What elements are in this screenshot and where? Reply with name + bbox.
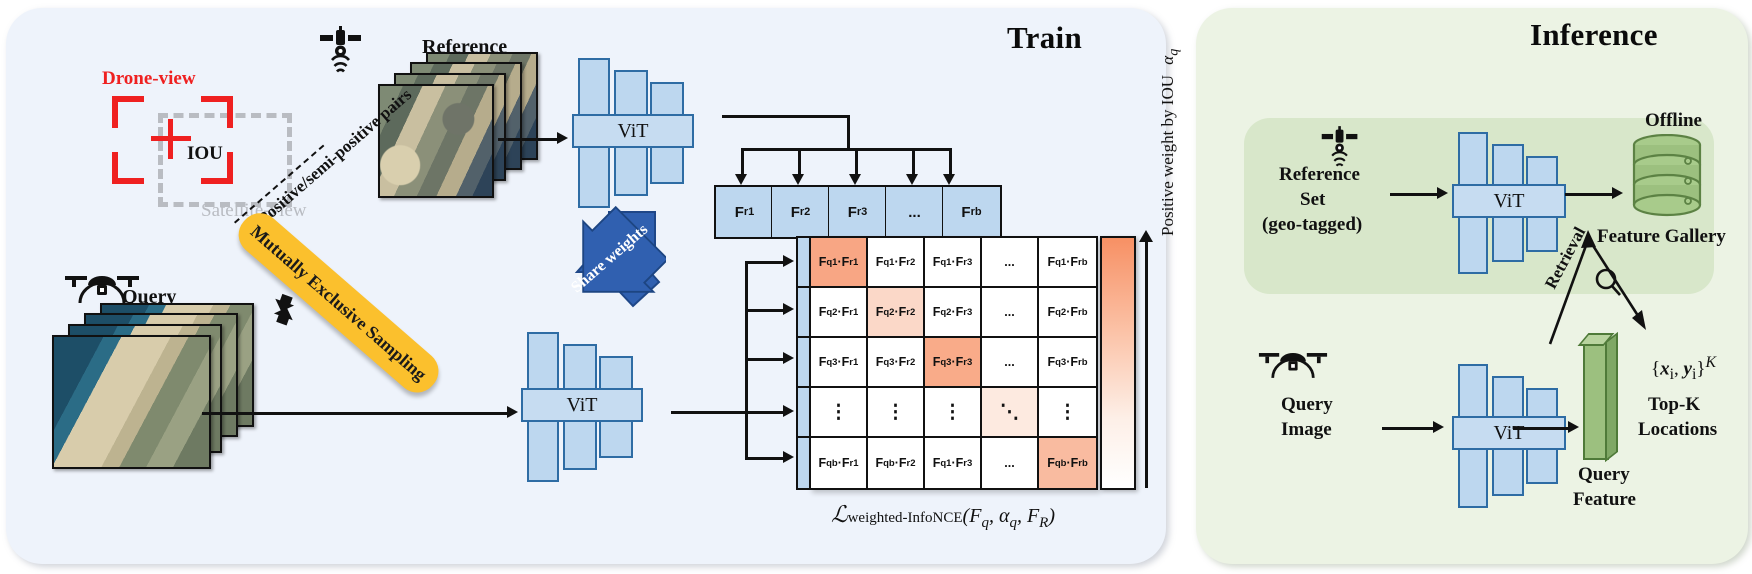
query-feature-label-line1: Query bbox=[1578, 464, 1630, 486]
vit-encoder-query: ViT bbox=[521, 330, 671, 490]
arrow-vit-to-gallery-head bbox=[1612, 187, 1623, 199]
vit-label-reference: ViT bbox=[572, 114, 694, 148]
reference-feature-box: Fr2 bbox=[771, 185, 831, 239]
database-icon bbox=[1630, 134, 1704, 218]
query-arrow-5 bbox=[783, 451, 794, 463]
bus-branch-2 bbox=[798, 148, 801, 176]
arrow-query-to-vit-line bbox=[202, 412, 508, 415]
similarity-matrix-cell: Fq1·Fr3 bbox=[925, 438, 982, 488]
similarity-matrix-cell: Fq1·Fr2 bbox=[868, 238, 925, 288]
arrow-refset-to-vit-line bbox=[1390, 193, 1438, 196]
bus-arrow-1 bbox=[735, 174, 747, 185]
similarity-matrix-cell: Fq2·Fr2 bbox=[868, 288, 925, 338]
similarity-matrix-cell: ⋱ bbox=[982, 388, 1039, 438]
train-panel-title: Train bbox=[1007, 20, 1082, 56]
query-arrow-3 bbox=[783, 352, 794, 364]
reference-feature-box: Frb bbox=[942, 185, 1002, 239]
drone-icon bbox=[1258, 348, 1328, 382]
vit-encoder-query-inference: ViT bbox=[1452, 364, 1592, 514]
colorbar-label: Positive weight by IOU αq bbox=[1158, 0, 1182, 236]
similarity-matrix-cell: Fq3·Fr1 bbox=[811, 338, 868, 388]
query-bus-vertical-lower bbox=[745, 411, 748, 459]
query-branch-1 bbox=[745, 261, 785, 264]
topk-coordinates-label: {xi, yi}K bbox=[1651, 354, 1716, 384]
similarity-matrix-cell: ... bbox=[982, 288, 1039, 338]
arrow-vit-to-gallery-line bbox=[1565, 193, 1613, 196]
similarity-matrix-cell: ⋮ bbox=[868, 388, 925, 438]
bus-branch-3 bbox=[855, 148, 858, 176]
similarity-matrix-cell: Fq2·Fr1 bbox=[811, 288, 868, 338]
query-feature-label-line2: Feature bbox=[1573, 489, 1636, 511]
similarity-matrix-cell: ... bbox=[982, 438, 1039, 488]
colorbar-label-text: Positive weight by IOU bbox=[1158, 75, 1177, 236]
query-feature-bar-side bbox=[1605, 332, 1618, 462]
loss-formula: ℒweighted-InfoNCE(Fq, αq, FR) bbox=[831, 502, 1055, 532]
similarity-matrix-cell: Fqb·Frb bbox=[1039, 438, 1096, 488]
inference-panel-title: Inference bbox=[1530, 17, 1658, 53]
query-branch-3 bbox=[745, 358, 785, 361]
loss-symbol: ℒ bbox=[831, 502, 848, 527]
positive-weight-colorbar bbox=[1100, 236, 1136, 490]
colorbar-arrow-line bbox=[1145, 240, 1148, 488]
reference-set-label-line3: (geo-tagged) bbox=[1262, 214, 1362, 236]
bus-branch-5 bbox=[949, 148, 952, 176]
ref-vit-output-line bbox=[722, 115, 850, 118]
arrow-refset-to-vit-head bbox=[1437, 187, 1448, 199]
satellite-icon bbox=[1320, 126, 1360, 168]
query-image-label-line2: Image bbox=[1281, 419, 1332, 441]
reference-feature-box: Fr1 bbox=[714, 185, 775, 239]
vit-label-offline: ViT bbox=[1452, 184, 1566, 218]
similarity-matrix-cell: Fq3·Fr2 bbox=[868, 338, 925, 388]
topk-label-line2: Locations bbox=[1638, 419, 1717, 441]
colorbar-arrow-head bbox=[1139, 230, 1153, 242]
bus-arrow-4 bbox=[906, 174, 918, 185]
similarity-matrix-cell: Fq2·Frb bbox=[1039, 288, 1096, 338]
vit-encoder-reference: ViT bbox=[572, 56, 722, 216]
similarity-matrix-cell: Fq1·Fr3 bbox=[925, 238, 982, 288]
ref-vit-output-drop bbox=[847, 115, 850, 150]
similarity-matrix-cell: Fqb·Fr1 bbox=[811, 438, 868, 488]
arrow-query-to-vit-head-inf bbox=[1433, 421, 1444, 433]
query-vit-output-line bbox=[671, 411, 746, 414]
similarity-matrix-cell: Fq1·Frb bbox=[1039, 238, 1096, 288]
arrow-ref-to-vit-line bbox=[498, 138, 558, 141]
query-branch-5 bbox=[745, 457, 785, 460]
train-panel: Train Drone-view IOU Satellite-view Refe… bbox=[6, 8, 1166, 564]
arrow-vit-to-queryfeature-line bbox=[1513, 427, 1569, 430]
mutually-exclusive-sampling-label: Mutually Exclusive Sampling bbox=[230, 205, 446, 401]
similarity-matrix-cell: Fq1·Fr1 bbox=[811, 238, 868, 288]
similarity-matrix-cell: ⋮ bbox=[925, 388, 982, 438]
drone-view-corner-bottom-left bbox=[112, 152, 144, 184]
loss-arguments: (Fq, αq, FR) bbox=[963, 505, 1055, 527]
query-image-stack bbox=[48, 303, 258, 473]
similarity-matrix: Fq1·Fr1Fq1·Fr2Fq1·Fr3...Fq1·FrbFq2·Fr1Fq… bbox=[809, 236, 1098, 490]
query-arrow-4 bbox=[783, 405, 794, 417]
iou-label: IOU bbox=[187, 143, 223, 165]
reference-image-stack bbox=[378, 52, 538, 202]
drone-view-label: Drone-view bbox=[102, 68, 196, 90]
vit-label-query-inference: ViT bbox=[1452, 416, 1566, 450]
bus-arrow-3 bbox=[849, 174, 861, 185]
bus-branch-4 bbox=[912, 148, 915, 176]
reference-set-label-line1: Reference bbox=[1279, 164, 1360, 186]
query-image-label-line1: Query bbox=[1281, 394, 1333, 416]
feature-bus-horizontal bbox=[741, 148, 951, 151]
bus-branch-1 bbox=[741, 148, 744, 176]
reference-set-label-line2: Set bbox=[1300, 189, 1325, 211]
drone-view-corner-top-left bbox=[112, 96, 144, 128]
center-crosshair-vertical bbox=[168, 119, 173, 159]
similarity-matrix-cell: ⋮ bbox=[811, 388, 868, 438]
similarity-matrix-cell: Fq3·Frb bbox=[1039, 338, 1096, 388]
offline-label: Offline bbox=[1645, 110, 1702, 132]
reference-feature-box: ... bbox=[885, 185, 945, 239]
satellite-icon bbox=[318, 26, 364, 74]
reference-feature-box: Fr3 bbox=[828, 185, 888, 239]
figure-canvas: Train Drone-view IOU Satellite-view Refe… bbox=[0, 0, 1752, 574]
similarity-matrix-cell: ⋮ bbox=[1039, 388, 1096, 438]
similarity-matrix-cell: Fqb·Fr2 bbox=[868, 438, 925, 488]
bus-arrow-5 bbox=[943, 174, 955, 185]
bus-arrow-2 bbox=[792, 174, 804, 185]
query-arrow-1 bbox=[783, 255, 794, 267]
drone-view-corner-top-right bbox=[201, 96, 233, 128]
query-arrow-2 bbox=[783, 303, 794, 315]
arrow-ref-to-vit-head bbox=[557, 132, 568, 144]
topk-label-line1: Top-K bbox=[1648, 394, 1700, 416]
bidirectional-arrow-icon bbox=[270, 293, 300, 327]
arrow-query-to-vit-head bbox=[507, 406, 518, 418]
loss-subscript: weighted-InfoNCE bbox=[848, 510, 963, 526]
similarity-matrix-cell: ... bbox=[982, 338, 1039, 388]
similarity-matrix-cell: Fq2·Fr3 bbox=[925, 288, 982, 338]
similarity-matrix-cell: ... bbox=[982, 238, 1039, 288]
query-branch-4 bbox=[745, 411, 785, 414]
similarity-matrix-cell: Fq3·Fr3 bbox=[925, 338, 982, 388]
query-branch-2 bbox=[745, 309, 785, 312]
arrow-query-to-vit-line-inf bbox=[1382, 427, 1434, 430]
vit-label-query: ViT bbox=[521, 388, 643, 422]
arrow-vit-to-queryfeature-head bbox=[1568, 421, 1579, 433]
query-bus-vertical bbox=[745, 261, 748, 413]
